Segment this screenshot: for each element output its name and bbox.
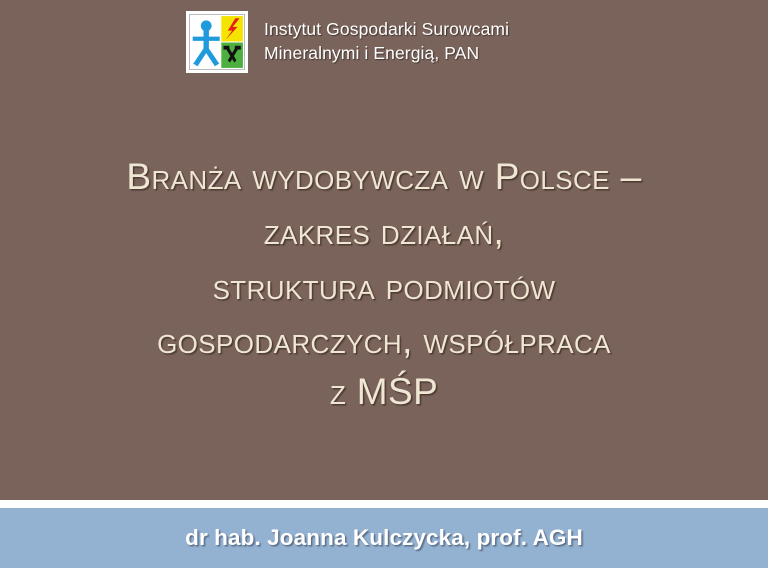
title-line-5: z MŚP [0,369,768,414]
title-line-3: struktura podmiotów [0,260,768,315]
title-line-1: Branża wydobywcza w Polsce – [0,150,768,205]
title-line-2: zakres działań, [0,205,768,260]
institute-logo [186,11,248,73]
slide-title: Branża wydobywcza w Polsce – zakres dzia… [0,150,768,414]
institute-name-line-1: Instytut Gospodarki Surowcami [264,18,509,42]
title-line-4: gospodarczych, współpraca [0,314,768,369]
slide-header: Instytut Gospodarki Surowcami Mineralnym… [186,11,509,73]
institute-name: Instytut Gospodarki Surowcami Mineralnym… [264,18,509,66]
author-footer-band: dr hab. Joanna Kulczycka, prof. AGH [0,508,768,568]
presentation-slide: Instytut Gospodarki Surowcami Mineralnym… [0,0,768,576]
institute-logo-frame [189,14,245,70]
institute-name-line-2: Mineralnymi i Energią, PAN [264,42,509,66]
author-name: dr hab. Joanna Kulczycka, prof. AGH [185,525,583,551]
